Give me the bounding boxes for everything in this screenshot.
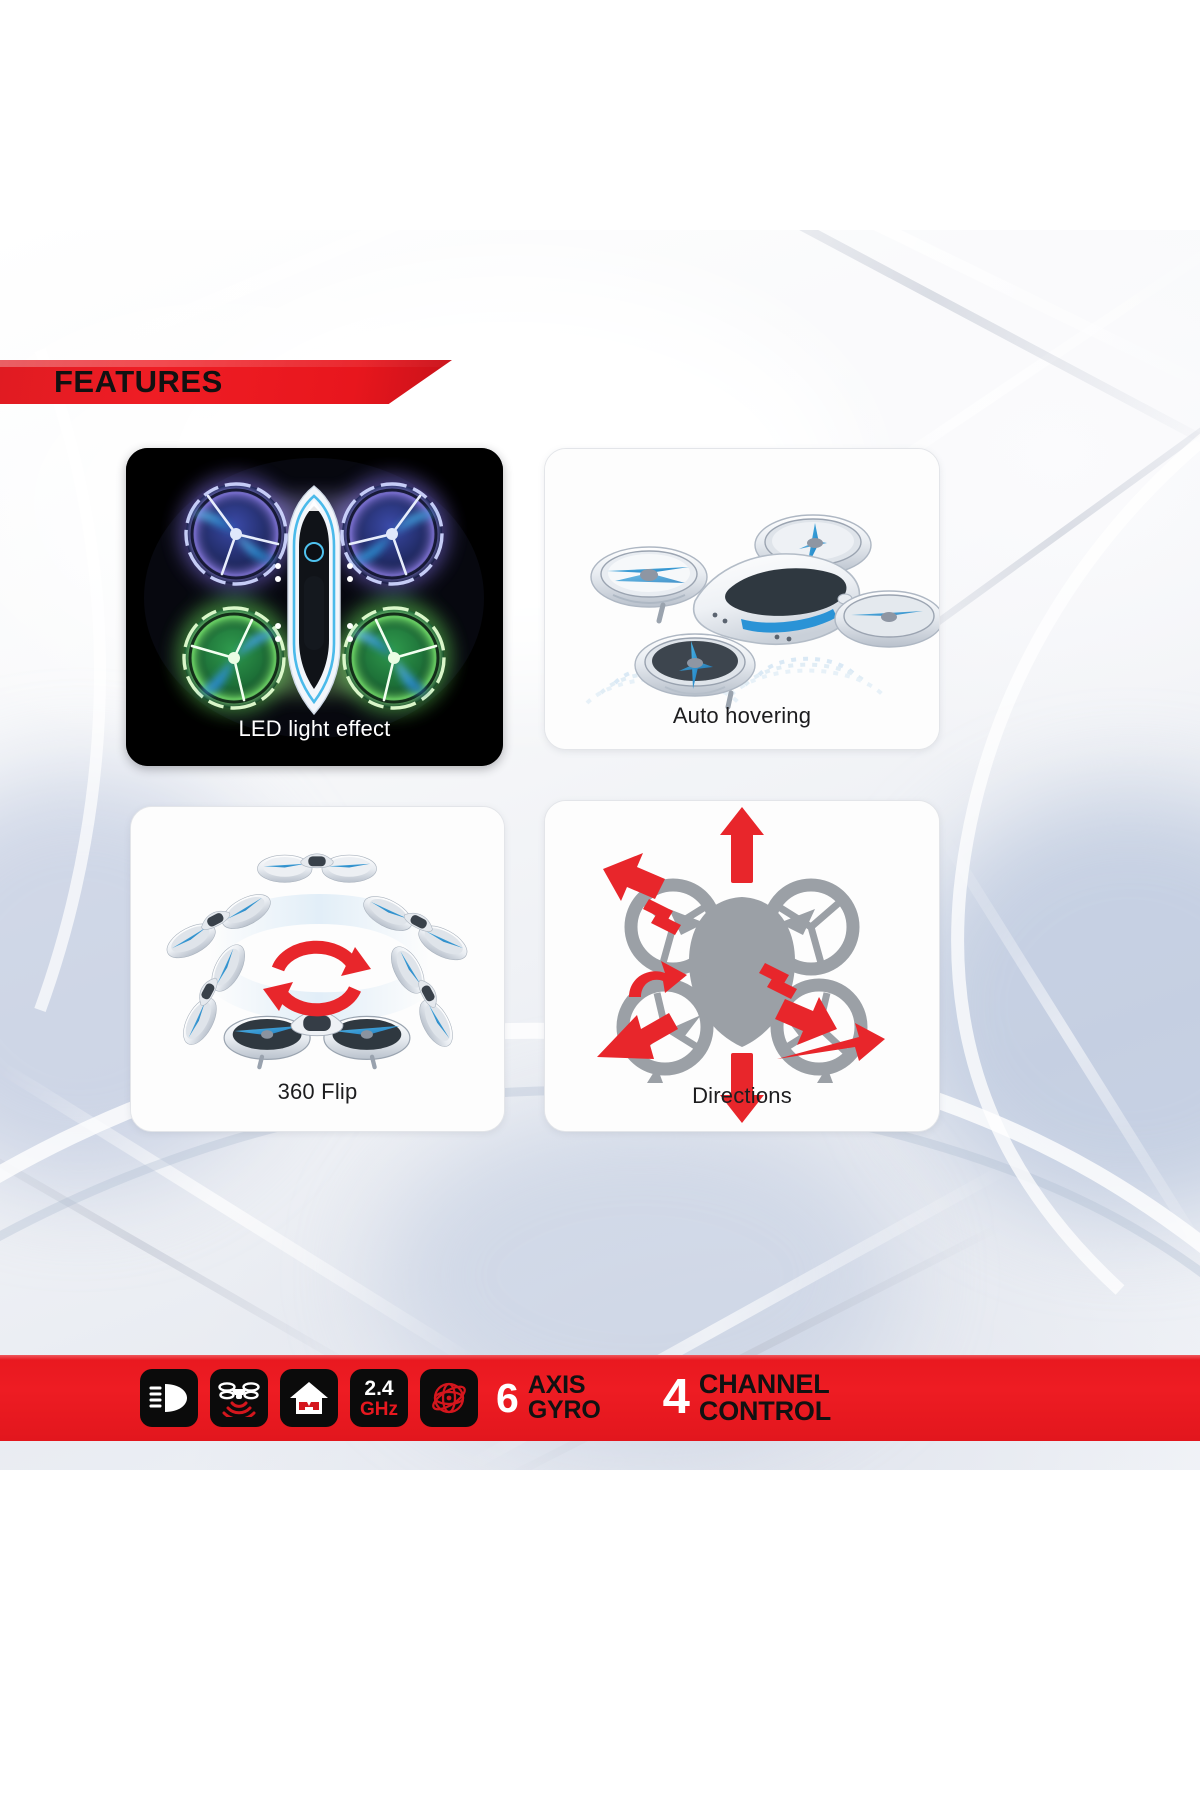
feature-card-directions[interactable]: Directions: [544, 800, 940, 1132]
led-headlight-icon: [140, 1369, 198, 1427]
feature-card-led-light-effect[interactable]: LED light effect: [126, 448, 503, 766]
frequency-value: 2.4: [364, 1378, 393, 1399]
frequency-icon: 2.4 GHz: [350, 1369, 408, 1427]
drone-silhouette-arrows-icon: [545, 801, 939, 1131]
feature-card-label: Auto hovering: [545, 703, 939, 729]
feature-card-label: LED light effect: [126, 716, 503, 742]
spec-axis-line1: AXIS: [528, 1373, 601, 1398]
feature-card-label: 360 Flip: [131, 1079, 504, 1105]
frequency-unit: GHz: [360, 1400, 398, 1419]
spec-axis-number: 6: [496, 1380, 519, 1416]
spec-channel-line1: CHANNEL: [699, 1371, 831, 1398]
spec-axis-gyro: 6 AXIS GYRO: [496, 1373, 601, 1423]
features-grid: LED light effect: [126, 448, 938, 1130]
spec-channel-control: 4 CHANNEL CONTROL: [663, 1371, 831, 1425]
product-feature-poster: FEATURES: [0, 0, 1200, 1800]
drone-signal-icon: [210, 1369, 268, 1427]
feature-card-auto-hovering[interactable]: Auto hovering: [544, 448, 940, 750]
page-title: FEATURES: [54, 366, 223, 398]
feature-card-360-flip[interactable]: 360 Flip: [130, 806, 505, 1132]
specs-footer-content: 2.4 GHz 6 AXIS GYRO 4: [0, 1355, 1200, 1441]
spec-channel-line2: CONTROL: [699, 1398, 831, 1425]
feature-card-label: Directions: [545, 1083, 939, 1109]
return-home-icon: [280, 1369, 338, 1427]
spec-channel-number: 4: [663, 1376, 690, 1419]
gyro-globe-icon: [420, 1369, 478, 1427]
spec-axis-line2: GYRO: [528, 1398, 601, 1423]
